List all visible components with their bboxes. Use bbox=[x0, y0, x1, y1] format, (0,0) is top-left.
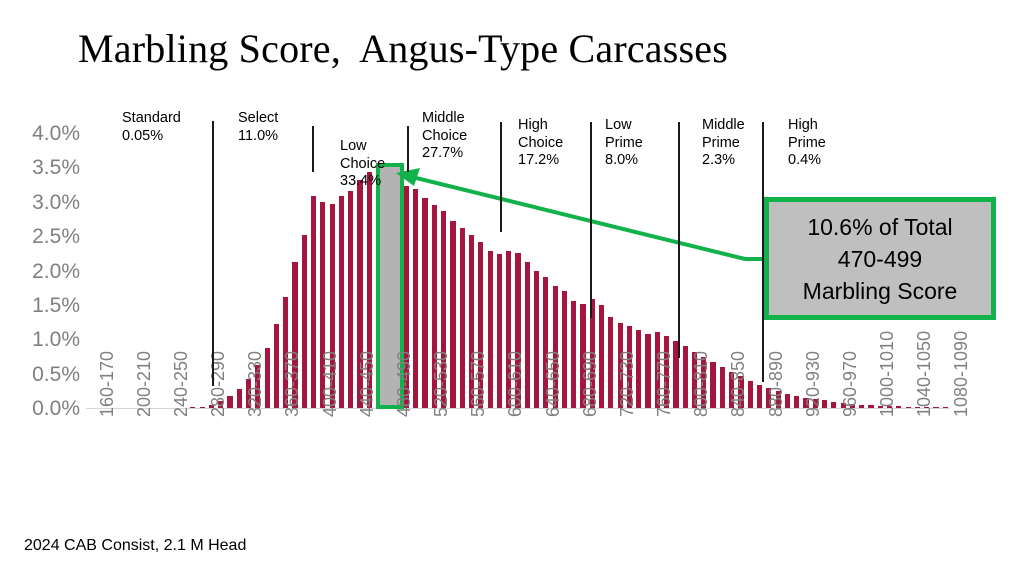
category-name-line: Low bbox=[340, 138, 385, 156]
y-axis-tick-label: 3.0% bbox=[8, 192, 80, 213]
x-axis-tick-label: 400-410 bbox=[321, 351, 339, 417]
bar bbox=[608, 317, 613, 408]
bar bbox=[571, 301, 576, 408]
category-percent: 2.3% bbox=[702, 152, 745, 170]
y-axis-tick-label: 2.5% bbox=[8, 226, 80, 247]
category-name-line: Prime bbox=[605, 135, 643, 153]
bar bbox=[720, 367, 725, 408]
x-axis-tick-label: 600-610 bbox=[506, 351, 524, 417]
bar bbox=[497, 254, 502, 408]
category-percent: 11.0% bbox=[238, 128, 278, 146]
category-percent: 27.7% bbox=[422, 145, 467, 163]
category-name-line: Middle bbox=[422, 110, 467, 128]
footer-source-note: 2024 CAB Consist, 2.1 M Head bbox=[24, 537, 246, 555]
x-axis-tick-label: 840-850 bbox=[729, 351, 747, 417]
page-title: Marbling Score, Angus-Type Carcasses bbox=[78, 26, 728, 72]
y-axis-tick-label: 1.5% bbox=[8, 295, 80, 316]
callout-line-1: 10.6% of Total bbox=[807, 211, 952, 243]
category-label-select: Select11.0% bbox=[238, 110, 278, 145]
bar bbox=[302, 235, 307, 408]
bar bbox=[794, 396, 799, 408]
category-label-standard: Standard0.05% bbox=[122, 110, 181, 145]
bar bbox=[265, 348, 270, 409]
bar bbox=[525, 262, 530, 408]
category-name-line: High bbox=[788, 117, 826, 135]
category-divider-line bbox=[312, 126, 314, 172]
bar bbox=[274, 324, 279, 408]
y-axis-tick-label: 0.0% bbox=[8, 398, 80, 419]
x-axis-tick-label: 480-490 bbox=[395, 351, 413, 417]
x-axis-tick-label: 880-890 bbox=[767, 351, 785, 417]
bar bbox=[683, 346, 688, 408]
bar bbox=[311, 196, 316, 408]
x-axis-tick-label: 720-730 bbox=[618, 351, 636, 417]
x-axis-tick-label: 240-250 bbox=[172, 351, 190, 417]
category-label-middle-prime: MiddlePrime2.3% bbox=[702, 117, 745, 170]
category-label-middle-choice: MiddleChoice27.7% bbox=[422, 110, 467, 163]
x-axis-tick-label: 560-570 bbox=[469, 351, 487, 417]
x-axis-tick-label: 320-330 bbox=[246, 351, 264, 417]
category-divider-line bbox=[590, 122, 592, 318]
y-axis-tick-label: 1.0% bbox=[8, 329, 80, 350]
bar bbox=[488, 251, 493, 408]
category-label-low-choice: LowChoice33.4% bbox=[340, 138, 385, 191]
category-percent: 17.2% bbox=[518, 152, 563, 170]
bar bbox=[422, 198, 427, 408]
category-divider-line bbox=[678, 122, 680, 358]
bar bbox=[645, 334, 650, 408]
x-axis-tick-label: 440-450 bbox=[358, 351, 376, 417]
category-name-line: Low bbox=[605, 117, 643, 135]
category-label-high-choice: HighChoice17.2% bbox=[518, 117, 563, 170]
category-divider-line bbox=[500, 122, 502, 232]
callout-line-2: 470-499 bbox=[838, 243, 922, 275]
bar bbox=[237, 389, 242, 408]
category-percent: 0.05% bbox=[122, 128, 181, 146]
bar bbox=[534, 271, 539, 409]
category-name-line: Prime bbox=[702, 135, 745, 153]
y-axis-tick-label: 4.0% bbox=[8, 123, 80, 144]
category-name-line: Choice bbox=[340, 156, 385, 174]
y-axis-tick-label: 0.5% bbox=[8, 364, 80, 385]
x-axis-tick-label: 1040-1050 bbox=[915, 331, 933, 417]
x-axis-tick-label: 760-770 bbox=[655, 351, 673, 417]
x-axis-tick-label: 160-170 bbox=[98, 351, 116, 417]
x-axis-tick-label: 520-530 bbox=[432, 351, 450, 417]
y-axis-tick-label: 2.0% bbox=[8, 261, 80, 282]
category-name-line: High bbox=[518, 117, 563, 135]
bar bbox=[460, 228, 465, 408]
category-name-line: Middle bbox=[702, 117, 745, 135]
x-axis-tick-label: 200-210 bbox=[135, 351, 153, 417]
x-axis-tick-label: 960-970 bbox=[841, 351, 859, 417]
bar bbox=[450, 221, 455, 408]
x-axis-tick-label: 1000-1010 bbox=[878, 331, 896, 417]
bar bbox=[748, 381, 753, 409]
x-axis-tick-label: 680-690 bbox=[581, 351, 599, 417]
bar bbox=[710, 362, 715, 408]
slide-canvas: Marbling Score, Angus-Type Carcasses 0.0… bbox=[0, 0, 1024, 576]
x-axis-tick-label: 800-810 bbox=[692, 351, 710, 417]
bar bbox=[227, 396, 232, 408]
category-name-line: Standard bbox=[122, 110, 181, 128]
y-axis: 0.0%0.5%1.0%1.5%2.0%2.5%3.0%3.5%4.0% bbox=[0, 0, 80, 576]
category-percent: 0.4% bbox=[788, 152, 826, 170]
category-percent: 8.0% bbox=[605, 152, 643, 170]
category-divider-line bbox=[407, 126, 409, 172]
category-name-line: Prime bbox=[788, 135, 826, 153]
callout-line-3: Marbling Score bbox=[803, 275, 958, 307]
x-axis-tick-label: 360-370 bbox=[283, 351, 301, 417]
category-name-line: Choice bbox=[518, 135, 563, 153]
x-axis-tick-label: 920-930 bbox=[804, 351, 822, 417]
bar bbox=[348, 191, 353, 408]
callout-box[interactable]: 10.6% of Total 470-499 Marbling Score bbox=[764, 197, 996, 320]
category-name-line: Select bbox=[238, 110, 278, 128]
category-divider-line bbox=[212, 121, 214, 386]
category-divider-line bbox=[762, 122, 764, 382]
y-axis-tick-label: 3.5% bbox=[8, 157, 80, 178]
x-axis-tick-label: 640-650 bbox=[544, 351, 562, 417]
x-axis-tick-label: 1080-1090 bbox=[952, 331, 970, 417]
category-percent: 33.4% bbox=[340, 173, 385, 191]
category-label-high-prime: HighPrime0.4% bbox=[788, 117, 826, 170]
category-label-low-prime: LowPrime8.0% bbox=[605, 117, 643, 170]
bar bbox=[757, 385, 762, 408]
category-name-line: Choice bbox=[422, 128, 467, 146]
